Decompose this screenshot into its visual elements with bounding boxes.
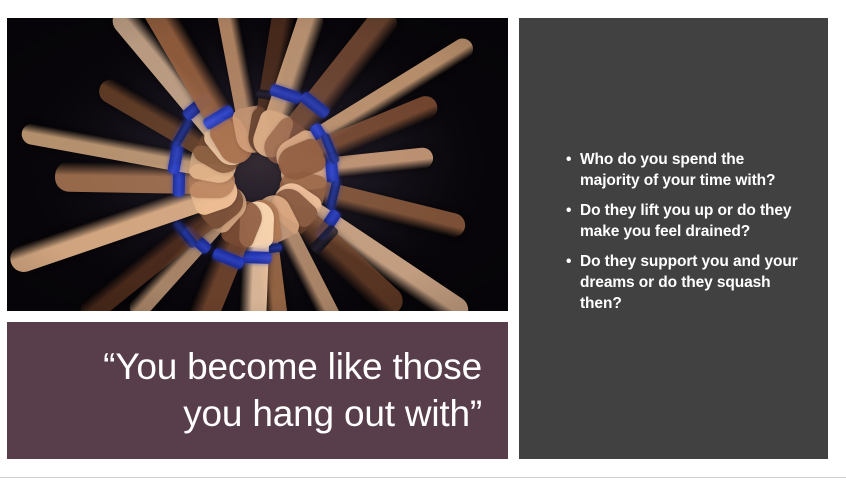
question-bullet-item: •Who do you spend the majority of your t… [566,150,806,191]
question-panel: •Who do you spend the majority of your t… [519,18,828,459]
slide-canvas: “You become like those you hang out with… [0,0,846,484]
question-bullet-item: •Do they support you and your dreams or … [566,252,806,314]
quote-box: “You become like those you hang out with… [7,322,508,459]
question-bullet-text: Do they lift you up or do they make you … [580,202,791,240]
bullet-dot-icon: • [566,201,571,222]
quote-text: “You become like those you hang out with… [7,344,508,437]
question-bullet-text: Do they support you and your dreams or d… [580,253,798,311]
bullet-dot-icon: • [566,252,571,273]
bottom-divider [0,477,846,478]
photo-vignette [7,18,508,311]
question-bullet-item: •Do they lift you up or do they make you… [566,201,806,242]
circle-of-hands-photo [7,18,508,311]
bullet-dot-icon: • [566,150,571,171]
photo-artwork [7,18,508,311]
question-bullet-list: •Who do you spend the majority of your t… [566,150,806,314]
question-bullet-text: Who do you spend the majority of your ti… [580,151,775,189]
